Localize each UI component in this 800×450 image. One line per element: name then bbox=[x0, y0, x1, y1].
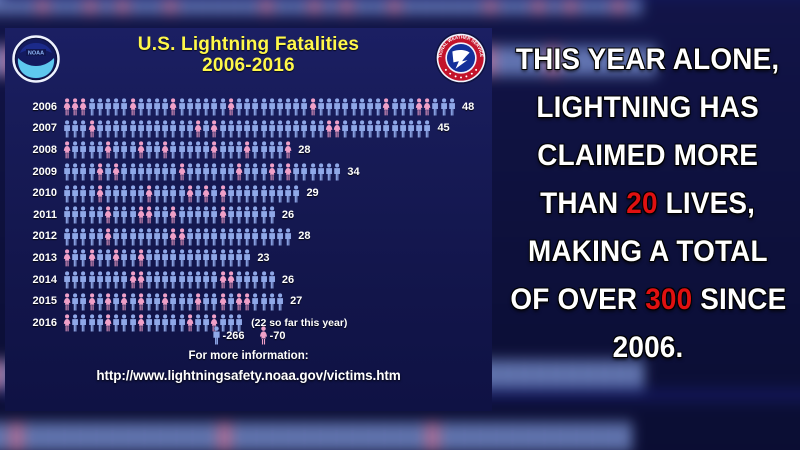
male-figure-icon bbox=[219, 163, 227, 181]
nws-logo: NATIONAL WEATHER SERVICE bbox=[434, 31, 488, 85]
male-figure-icon bbox=[79, 228, 87, 246]
male-figure-icon bbox=[178, 293, 186, 311]
female-figure-icon bbox=[169, 228, 177, 246]
male-figure-icon bbox=[235, 120, 243, 138]
female-figure-icon bbox=[169, 98, 177, 116]
male-figure-icon bbox=[129, 120, 137, 138]
male-figure-icon bbox=[88, 228, 96, 246]
male-figure-icon bbox=[210, 249, 218, 267]
row-figures bbox=[63, 162, 341, 181]
row-year-label: 2009 bbox=[5, 166, 63, 178]
row-year-label: 2013 bbox=[5, 252, 63, 264]
male-figure-icon bbox=[440, 98, 448, 116]
male-figure-icon bbox=[129, 141, 137, 159]
male-figure-icon bbox=[96, 249, 104, 267]
male-figure-icon bbox=[202, 163, 210, 181]
caption-segment: LIVES, bbox=[658, 187, 755, 220]
male-figure-icon bbox=[186, 120, 194, 138]
male-figure-icon bbox=[120, 163, 128, 181]
male-figure-icon bbox=[300, 98, 308, 116]
male-figure-icon bbox=[374, 98, 382, 116]
row-figures bbox=[63, 205, 276, 224]
legend-item-female: -70 bbox=[259, 326, 286, 345]
male-figure-icon bbox=[137, 98, 145, 116]
male-figure-icon bbox=[366, 98, 374, 116]
male-figure-icon bbox=[194, 98, 202, 116]
male-figure-icon bbox=[178, 185, 186, 203]
female-figure-icon bbox=[219, 293, 227, 311]
male-figure-icon bbox=[350, 120, 358, 138]
male-figure-icon bbox=[284, 120, 292, 138]
row-year-label: 2011 bbox=[5, 209, 63, 221]
male-figure-icon bbox=[407, 98, 415, 116]
male-figure-icon bbox=[79, 141, 87, 159]
male-figure-icon bbox=[153, 293, 161, 311]
male-figure-icon bbox=[210, 271, 218, 289]
male-figure-icon bbox=[276, 98, 284, 116]
female-figure-icon bbox=[112, 249, 120, 267]
female-figure-icon bbox=[104, 293, 112, 311]
caption-text: THIS YEAR ALONE,LIGHTNING HASCLAIMED MOR… bbox=[498, 36, 798, 416]
caption-segment: LIGHTNING HAS bbox=[537, 91, 760, 124]
male-figure-icon bbox=[202, 98, 210, 116]
male-figure-icon bbox=[243, 163, 251, 181]
male-figure-icon bbox=[169, 141, 177, 159]
male-figure-icon bbox=[129, 163, 137, 181]
male-figure-icon bbox=[178, 206, 186, 224]
row-year-label: 2007 bbox=[5, 122, 63, 134]
male-figure-icon bbox=[227, 163, 235, 181]
male-figure-icon bbox=[79, 293, 87, 311]
svg-text:NOAA: NOAA bbox=[28, 51, 44, 57]
female-figure-icon bbox=[145, 206, 153, 224]
male-figure-icon bbox=[161, 249, 169, 267]
male-figure-icon bbox=[325, 98, 333, 116]
pictogram-rows: 2006 bbox=[5, 96, 492, 334]
male-figure-icon bbox=[120, 206, 128, 224]
male-figure-icon bbox=[227, 141, 235, 159]
male-figure-icon bbox=[251, 228, 259, 246]
male-figure-icon bbox=[219, 120, 227, 138]
pictogram-row: 2009 bbox=[5, 161, 492, 183]
male-figure-icon bbox=[227, 120, 235, 138]
female-figure-icon bbox=[96, 185, 104, 203]
row-value-label: 28 bbox=[298, 230, 310, 242]
male-figure-icon bbox=[137, 185, 145, 203]
male-figure-icon bbox=[358, 98, 366, 116]
noaa-logo: NOAA bbox=[11, 34, 61, 84]
caption-segment: CLAIMED MORE bbox=[538, 139, 759, 172]
male-figure-icon bbox=[120, 185, 128, 203]
male-figure-icon bbox=[260, 120, 268, 138]
male-figure-icon bbox=[309, 163, 317, 181]
male-figure-icon bbox=[202, 120, 210, 138]
male-figure-icon bbox=[186, 271, 194, 289]
row-figures bbox=[63, 119, 431, 138]
male-figure-icon bbox=[153, 271, 161, 289]
row-year-label: 2008 bbox=[5, 144, 63, 156]
male-figure-icon bbox=[243, 206, 251, 224]
pictogram-row: 2007 bbox=[5, 118, 492, 140]
male-figure-icon bbox=[260, 141, 268, 159]
female-figure-icon bbox=[219, 185, 227, 203]
male-figure-icon bbox=[79, 206, 87, 224]
male-figure-icon bbox=[284, 185, 292, 203]
female-figure-icon bbox=[325, 120, 333, 138]
caption-segment: THAN bbox=[540, 187, 626, 220]
male-figure-icon bbox=[129, 293, 137, 311]
female-figure-icon bbox=[161, 141, 169, 159]
pictogram-row: 2008 bbox=[5, 139, 492, 161]
male-figure-icon bbox=[276, 185, 284, 203]
female-figure-icon bbox=[137, 206, 145, 224]
male-figure-icon bbox=[227, 228, 235, 246]
female-figure-icon bbox=[178, 228, 186, 246]
female-figure-icon bbox=[284, 141, 292, 159]
male-figure-icon bbox=[276, 120, 284, 138]
female-figure-icon bbox=[202, 185, 210, 203]
male-figure-icon bbox=[423, 120, 431, 138]
male-figure-icon bbox=[309, 120, 317, 138]
male-figure-icon bbox=[194, 249, 202, 267]
female-figure-icon bbox=[63, 98, 71, 116]
male-figure-icon bbox=[333, 163, 341, 181]
caption-line: LIGHTNING HAS bbox=[537, 84, 760, 132]
male-figure-icon bbox=[63, 206, 71, 224]
male-figure-icon bbox=[235, 228, 243, 246]
female-figure-icon bbox=[104, 228, 112, 246]
male-figure-icon bbox=[153, 163, 161, 181]
female-figure-icon bbox=[423, 98, 431, 116]
male-figure-icon bbox=[71, 293, 79, 311]
male-figure-icon bbox=[210, 185, 218, 203]
male-figure-icon bbox=[161, 185, 169, 203]
female-figure-icon bbox=[88, 293, 96, 311]
chart-title-line1: U.S. Lightning Fatalities bbox=[5, 34, 492, 55]
female-figure-icon bbox=[194, 120, 202, 138]
row-value-label: 34 bbox=[347, 166, 359, 178]
caption-segment: SINCE bbox=[692, 283, 786, 316]
male-figure-icon bbox=[96, 206, 104, 224]
caption-highlight: 20 bbox=[627, 187, 658, 220]
male-figure-icon bbox=[251, 98, 259, 116]
caption-line: CLAIMED MORE bbox=[538, 132, 759, 180]
row-year-label: 2015 bbox=[5, 295, 63, 307]
male-figure-icon bbox=[71, 185, 79, 203]
male-figure-icon bbox=[129, 249, 137, 267]
male-figure-icon bbox=[212, 326, 221, 345]
male-figure-icon bbox=[300, 163, 308, 181]
male-figure-icon bbox=[161, 120, 169, 138]
male-figure-icon bbox=[341, 98, 349, 116]
row-figures bbox=[63, 227, 292, 246]
male-figure-icon bbox=[145, 98, 153, 116]
male-figure-icon bbox=[104, 249, 112, 267]
male-figure-icon bbox=[104, 120, 112, 138]
caption-segment: MAKING A TOTAL bbox=[528, 235, 768, 268]
male-figure-icon bbox=[129, 206, 137, 224]
male-figure-icon bbox=[194, 206, 202, 224]
male-figure-icon bbox=[268, 98, 276, 116]
male-figure-icon bbox=[71, 249, 79, 267]
male-figure-icon bbox=[137, 163, 145, 181]
male-figure-icon bbox=[104, 271, 112, 289]
male-figure-icon bbox=[243, 249, 251, 267]
male-figure-icon bbox=[186, 141, 194, 159]
male-figure-icon bbox=[194, 163, 202, 181]
female-figure-icon bbox=[235, 163, 243, 181]
male-figure-icon bbox=[169, 293, 177, 311]
male-figure-icon bbox=[276, 163, 284, 181]
caption-segment: OF OVER bbox=[510, 283, 645, 316]
male-figure-icon bbox=[153, 141, 161, 159]
female-figure-icon bbox=[259, 326, 268, 345]
row-figures bbox=[63, 292, 284, 311]
male-figure-icon bbox=[88, 271, 96, 289]
male-figure-icon bbox=[333, 98, 341, 116]
row-value-label: 29 bbox=[306, 187, 318, 199]
male-figure-icon bbox=[235, 249, 243, 267]
female-figure-icon bbox=[145, 185, 153, 203]
row-figures bbox=[63, 248, 251, 267]
male-figure-icon bbox=[251, 141, 259, 159]
row-figures bbox=[63, 140, 292, 159]
male-figure-icon bbox=[145, 249, 153, 267]
male-figure-icon bbox=[219, 141, 227, 159]
row-value-label: 27 bbox=[290, 295, 302, 307]
male-figure-icon bbox=[63, 271, 71, 289]
male-figure-icon bbox=[161, 206, 169, 224]
male-figure-icon bbox=[178, 120, 186, 138]
male-figure-icon bbox=[243, 271, 251, 289]
male-figure-icon bbox=[71, 163, 79, 181]
male-figure-icon bbox=[120, 98, 128, 116]
male-figure-icon bbox=[96, 141, 104, 159]
male-figure-icon bbox=[210, 228, 218, 246]
female-figure-icon bbox=[186, 185, 194, 203]
male-figure-icon bbox=[112, 185, 120, 203]
female-figure-icon bbox=[268, 163, 276, 181]
female-figure-icon bbox=[284, 163, 292, 181]
female-figure-icon bbox=[63, 249, 71, 267]
female-figure-icon bbox=[63, 293, 71, 311]
male-figure-icon bbox=[96, 98, 104, 116]
male-figure-icon bbox=[260, 293, 268, 311]
more-info-label: For more information: bbox=[5, 350, 492, 362]
male-figure-icon bbox=[137, 120, 145, 138]
male-figure-icon bbox=[251, 271, 259, 289]
male-figure-icon bbox=[251, 185, 259, 203]
male-figure-icon bbox=[79, 185, 87, 203]
male-figure-icon bbox=[161, 163, 169, 181]
male-figure-icon bbox=[260, 206, 268, 224]
female-figure-icon bbox=[137, 271, 145, 289]
legend-male-label: -266 bbox=[223, 330, 245, 342]
female-figure-icon bbox=[104, 141, 112, 159]
male-figure-icon bbox=[260, 163, 268, 181]
male-figure-icon bbox=[79, 271, 87, 289]
male-figure-icon bbox=[186, 249, 194, 267]
male-figure-icon bbox=[268, 120, 276, 138]
male-figure-icon bbox=[276, 141, 284, 159]
row-figures bbox=[63, 184, 300, 203]
male-figure-icon bbox=[399, 120, 407, 138]
male-figure-icon bbox=[202, 249, 210, 267]
row-figures bbox=[63, 97, 456, 116]
male-figure-icon bbox=[227, 206, 235, 224]
male-figure-icon bbox=[71, 141, 79, 159]
male-figure-icon bbox=[153, 249, 161, 267]
female-figure-icon bbox=[309, 98, 317, 116]
row-figures bbox=[63, 270, 276, 289]
female-figure-icon bbox=[88, 120, 96, 138]
row-value-label: 48 bbox=[462, 101, 474, 113]
male-figure-icon bbox=[104, 185, 112, 203]
male-figure-icon bbox=[153, 185, 161, 203]
male-figure-icon bbox=[268, 271, 276, 289]
female-figure-icon bbox=[415, 98, 423, 116]
male-figure-icon bbox=[202, 293, 210, 311]
male-figure-icon bbox=[251, 120, 259, 138]
male-figure-icon bbox=[63, 228, 71, 246]
male-figure-icon bbox=[186, 228, 194, 246]
male-figure-icon bbox=[153, 206, 161, 224]
male-figure-icon bbox=[79, 163, 87, 181]
pictogram-row: 2014 bbox=[5, 269, 492, 291]
male-figure-icon bbox=[382, 120, 390, 138]
male-figure-icon bbox=[202, 141, 210, 159]
chart-legend: -266 -70 bbox=[5, 326, 492, 345]
male-figure-icon bbox=[235, 271, 243, 289]
male-figure-icon bbox=[268, 228, 276, 246]
female-figure-icon bbox=[210, 141, 218, 159]
female-figure-icon bbox=[243, 141, 251, 159]
female-figure-icon bbox=[210, 120, 218, 138]
pictogram-row: 2015 bbox=[5, 290, 492, 312]
male-figure-icon bbox=[276, 228, 284, 246]
male-figure-icon bbox=[260, 98, 268, 116]
row-value-label: 26 bbox=[282, 274, 294, 286]
male-figure-icon bbox=[194, 141, 202, 159]
male-figure-icon bbox=[178, 98, 186, 116]
male-figure-icon bbox=[112, 120, 120, 138]
male-figure-icon bbox=[120, 249, 128, 267]
male-figure-icon bbox=[219, 228, 227, 246]
male-figure-icon bbox=[243, 185, 251, 203]
male-figure-icon bbox=[227, 249, 235, 267]
female-figure-icon bbox=[243, 293, 251, 311]
male-figure-icon bbox=[161, 228, 169, 246]
pictogram-row: 2006 bbox=[5, 96, 492, 118]
male-figure-icon bbox=[137, 228, 145, 246]
male-figure-icon bbox=[79, 120, 87, 138]
legend-female-label: -70 bbox=[270, 330, 286, 342]
male-figure-icon bbox=[448, 98, 456, 116]
female-figure-icon bbox=[88, 249, 96, 267]
male-figure-icon bbox=[317, 163, 325, 181]
pictogram-row: 2012 bbox=[5, 226, 492, 248]
male-figure-icon bbox=[431, 98, 439, 116]
male-figure-icon bbox=[186, 98, 194, 116]
male-figure-icon bbox=[292, 185, 300, 203]
male-figure-icon bbox=[194, 228, 202, 246]
male-figure-icon bbox=[202, 271, 210, 289]
row-year-label: 2012 bbox=[5, 230, 63, 242]
female-figure-icon bbox=[178, 163, 186, 181]
caption-line: OF OVER 300 SINCE bbox=[510, 276, 786, 324]
row-value-label: 45 bbox=[437, 122, 449, 134]
female-figure-icon bbox=[235, 293, 243, 311]
male-figure-icon bbox=[63, 120, 71, 138]
legend-item-male: -266 bbox=[212, 326, 245, 345]
male-figure-icon bbox=[260, 228, 268, 246]
female-figure-icon bbox=[104, 206, 112, 224]
male-figure-icon bbox=[186, 163, 194, 181]
female-figure-icon bbox=[112, 163, 120, 181]
male-figure-icon bbox=[202, 228, 210, 246]
caption-line: THAN 20 LIVES, bbox=[540, 180, 755, 228]
male-figure-icon bbox=[292, 98, 300, 116]
male-figure-icon bbox=[71, 120, 79, 138]
male-figure-icon bbox=[63, 163, 71, 181]
male-figure-icon bbox=[63, 185, 71, 203]
male-figure-icon bbox=[317, 98, 325, 116]
male-figure-icon bbox=[145, 141, 153, 159]
male-figure-icon bbox=[120, 120, 128, 138]
male-figure-icon bbox=[153, 98, 161, 116]
male-figure-icon bbox=[112, 98, 120, 116]
male-figure-icon bbox=[178, 141, 186, 159]
male-figure-icon bbox=[210, 163, 218, 181]
male-figure-icon bbox=[129, 185, 137, 203]
male-figure-icon bbox=[145, 120, 153, 138]
female-figure-icon bbox=[71, 98, 79, 116]
caption-segment: THIS YEAR ALONE, bbox=[516, 43, 779, 76]
pictogram-row: 2010 bbox=[5, 182, 492, 204]
row-value-label: 23 bbox=[257, 252, 269, 264]
female-figure-icon bbox=[161, 293, 169, 311]
pictogram-row: 2011 bbox=[5, 204, 492, 226]
male-figure-icon bbox=[88, 141, 96, 159]
male-figure-icon bbox=[120, 228, 128, 246]
male-figure-icon bbox=[251, 163, 259, 181]
male-figure-icon bbox=[178, 249, 186, 267]
female-figure-icon bbox=[137, 249, 145, 267]
female-figure-icon bbox=[137, 293, 145, 311]
male-figure-icon bbox=[120, 271, 128, 289]
source-url[interactable]: http://www.lightningsafety.noaa.gov/vict… bbox=[5, 368, 492, 383]
male-figure-icon bbox=[112, 293, 120, 311]
male-figure-icon bbox=[88, 98, 96, 116]
male-figure-icon bbox=[415, 120, 423, 138]
female-figure-icon bbox=[137, 141, 145, 159]
male-figure-icon bbox=[243, 120, 251, 138]
male-figure-icon bbox=[88, 163, 96, 181]
row-year-label: 2014 bbox=[5, 274, 63, 286]
male-figure-icon bbox=[341, 120, 349, 138]
female-figure-icon bbox=[333, 120, 341, 138]
female-figure-icon bbox=[219, 206, 227, 224]
male-figure-icon bbox=[260, 185, 268, 203]
male-figure-icon bbox=[104, 98, 112, 116]
male-figure-icon bbox=[169, 120, 177, 138]
female-figure-icon bbox=[227, 98, 235, 116]
male-figure-icon bbox=[235, 185, 243, 203]
female-figure-icon bbox=[194, 293, 202, 311]
male-figure-icon bbox=[161, 98, 169, 116]
caption-highlight: 300 bbox=[645, 283, 692, 316]
male-figure-icon bbox=[243, 98, 251, 116]
